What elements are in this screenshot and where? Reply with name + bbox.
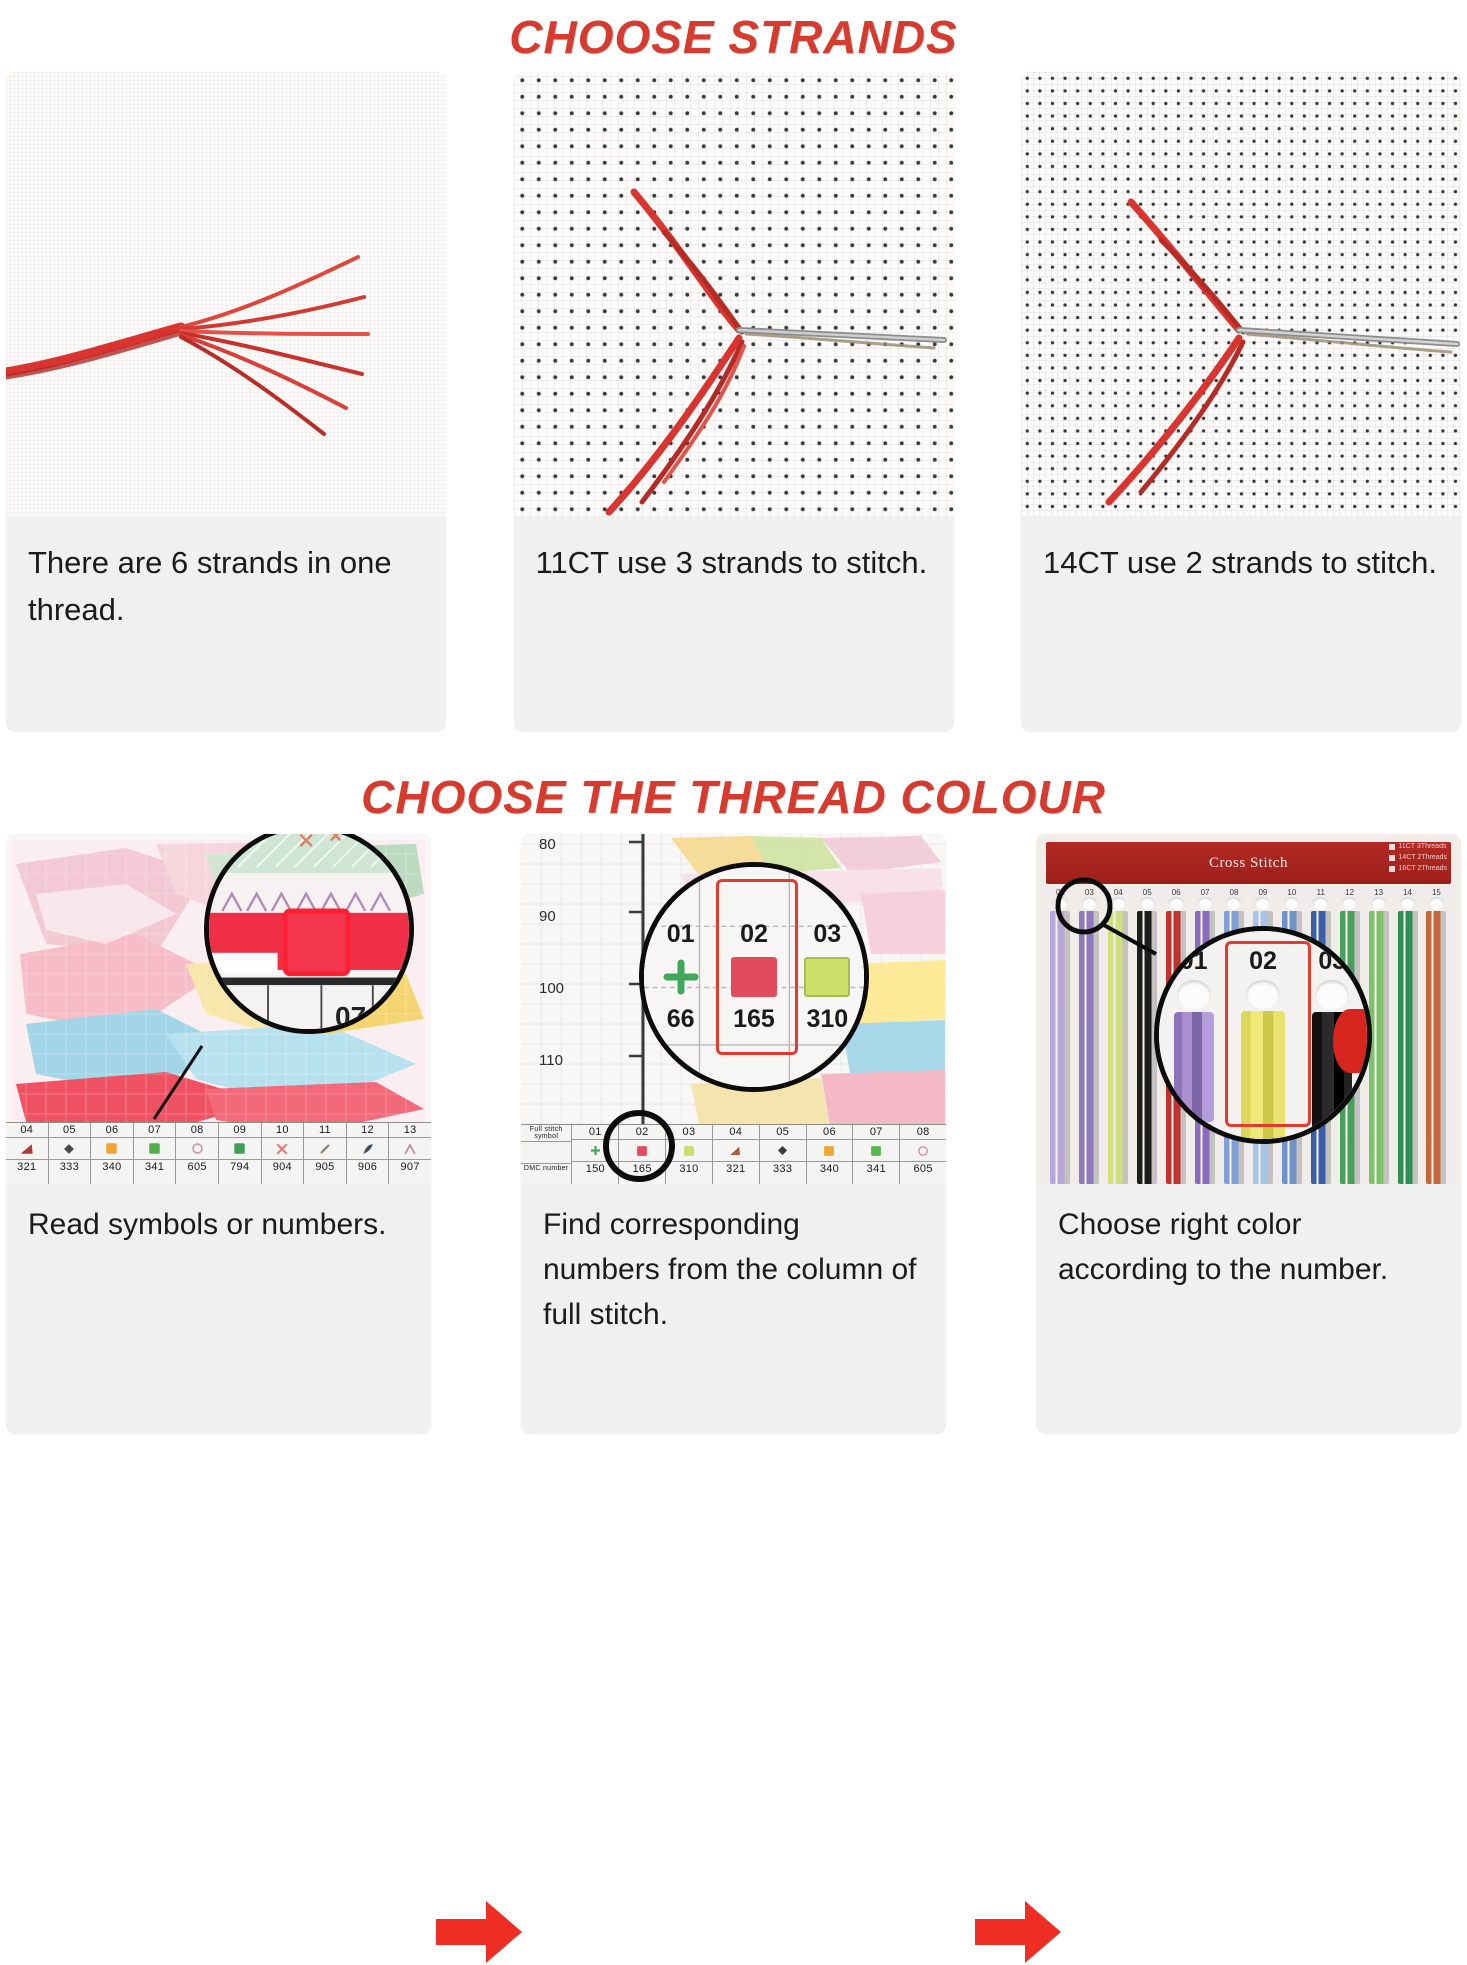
thread-slot-hole	[1284, 897, 1299, 910]
magnifier-red-thread-edge	[1333, 1009, 1367, 1073]
legend-cell-symbol	[853, 1140, 899, 1162]
legend-cell: 05 333	[49, 1123, 92, 1184]
thread-slot-hole	[1111, 897, 1126, 910]
magnified-thread-hole	[1177, 980, 1211, 1010]
next-step-arrow-icon	[436, 1899, 522, 1965]
magnified-thread-hole	[1315, 980, 1349, 1010]
photo-thread-card: Cross Stitch 11CT 3Threads14CT 2Threads1…	[1036, 834, 1461, 1184]
caption-six-strands: There are 6 strands in one thread.	[6, 517, 446, 732]
thread-slot-number: 02	[1056, 888, 1065, 897]
legend-cell: 06 340	[807, 1125, 854, 1184]
needle-and-strands-illustration-11ct	[514, 72, 954, 517]
legend-cell-code: 333	[760, 1162, 806, 1176]
legend-cell-symbol	[389, 1138, 431, 1160]
magnifier-threads: 01 02 03	[1154, 926, 1372, 1144]
legend-cell-number: 09	[219, 1123, 261, 1138]
legend-cell-code: 907	[389, 1160, 431, 1174]
next-step-arrow-icon	[975, 1899, 1061, 1965]
thread-slot-number: 14	[1403, 888, 1412, 897]
caption-choose-color: Choose right color according to the numb…	[1036, 1184, 1461, 1434]
legend-cell-number: 08	[900, 1125, 946, 1140]
thread-slot: 02	[1046, 888, 1075, 1184]
thread-card-title: Cross Stitch	[1209, 855, 1288, 872]
legend-cell-code: 333	[49, 1160, 91, 1174]
legend-cell: 04 321	[713, 1125, 760, 1184]
legend-cell-symbol	[347, 1138, 389, 1160]
card-14ct: 14CT use 2 strands to stitch.	[1021, 72, 1461, 732]
legend-cell-symbol	[807, 1140, 853, 1162]
legend-cell: 08 605	[176, 1123, 219, 1184]
thread-slot-number: 08	[1230, 888, 1239, 897]
legend-cell-number: 05	[760, 1125, 806, 1140]
needle-and-strands-illustration-14ct	[1021, 72, 1461, 517]
checkbox-icon	[1389, 855, 1395, 861]
checkbox-icon	[1389, 866, 1395, 872]
thread-slot-number: 07	[1201, 888, 1210, 897]
legend-cell: 08 605	[900, 1125, 946, 1184]
photo-numbered-chart: 80 90 100 110	[521, 834, 946, 1184]
thread-skein	[1050, 911, 1070, 1184]
chart-legend-strip: Full stitch symbol DMC number 01 150 02 …	[521, 1124, 946, 1184]
legend-cell-number: 08	[176, 1123, 218, 1138]
card-find-numbers: 80 90 100 110	[521, 834, 946, 1434]
magnified-column-number: 03	[813, 920, 841, 949]
legend-cell-symbol	[219, 1138, 261, 1160]
legend-cell: 12 906	[347, 1123, 390, 1184]
legend-cell-code: 321	[713, 1162, 759, 1176]
magnified-thread-column: 01	[1159, 947, 1228, 1139]
thread-card-options: 11CT 3Threads14CT 2Threads16CT 2Threads	[1389, 842, 1447, 875]
thread-slot-number: 11	[1317, 888, 1325, 897]
legend-row-label-symbol: Full stitch symbol	[521, 1125, 571, 1142]
legend-cell: 09 794	[219, 1123, 262, 1184]
magnifier-pattern: 07	[204, 834, 414, 1034]
legend-cell-symbol	[900, 1140, 946, 1162]
thread-skein	[1369, 911, 1389, 1184]
plus-symbol-icon	[658, 957, 704, 997]
thread-slot-hole	[1169, 897, 1184, 910]
legend-cell-number: 12	[347, 1123, 389, 1138]
thread-slot-hole	[1226, 897, 1241, 910]
thread-slot-number: 04	[1114, 888, 1123, 897]
legend-cell-code: 310	[666, 1162, 712, 1176]
caption-find-numbers: Find corresponding numbers from the colu…	[521, 1184, 946, 1434]
thread-card-option-label: 11CT 3Threads	[1398, 842, 1446, 853]
legend-cell-code: 340	[807, 1162, 853, 1176]
thread-slot-hole	[1342, 897, 1357, 910]
thread-card-option: 14CT 2Threads	[1389, 853, 1447, 864]
magnifier-threads-content: 01 02 03	[1159, 931, 1367, 1139]
legend-cell-number: 10	[262, 1123, 304, 1138]
photo-11ct-fabric	[514, 72, 954, 517]
legend-cell-code: 321	[6, 1160, 48, 1174]
legend-cell-number: 04	[6, 1123, 48, 1138]
thread-slot-number: 13	[1374, 888, 1383, 897]
chart-y-axis: 80 90 100 110	[527, 834, 589, 1094]
photo-pattern-chart: 07 04 321 05 333 06 340 07 341 08	[6, 834, 431, 1184]
thread-slot-number: 05	[1143, 888, 1152, 897]
legend-cell-code: 605	[176, 1160, 218, 1174]
magnified-column-code: 310	[806, 1005, 848, 1034]
y-axis-label: 110	[539, 1052, 563, 1069]
legend-cell-symbol	[49, 1138, 91, 1160]
legend-cell-code: 905	[304, 1160, 346, 1174]
legend-cell-symbol	[713, 1140, 759, 1162]
photo-14ct-fabric	[1021, 72, 1461, 517]
legend-cell-symbol	[91, 1138, 133, 1160]
legend-cell-symbol	[304, 1138, 346, 1160]
legend-cell-number: 05	[49, 1123, 91, 1138]
card-choose-color: Cross Stitch 11CT 3Threads14CT 2Threads1…	[1036, 834, 1461, 1434]
thread-slot-hole	[1371, 897, 1386, 910]
legend-cell: 11 905	[304, 1123, 347, 1184]
legend-cell: 06 340	[91, 1123, 134, 1184]
caption-14ct: 14CT use 2 strands to stitch.	[1021, 517, 1461, 732]
thread-slot-number: 15	[1432, 888, 1441, 897]
legend-cell-number: 11	[304, 1123, 346, 1138]
thread-slot-hole	[1313, 897, 1328, 910]
legend-cell: 04 321	[6, 1123, 49, 1184]
legend-row-labels: Full stitch symbol DMC number	[521, 1125, 572, 1184]
thread-slot-number: 12	[1345, 888, 1354, 897]
magnifier-chart: 01 66 02 165	[639, 862, 869, 1092]
magnified-thread-number: 01	[1180, 947, 1208, 976]
thread-slot-number: 06	[1172, 888, 1181, 897]
thread-slot-number: 09	[1258, 888, 1267, 897]
legend-cell: 10 904	[262, 1123, 305, 1184]
y-axis-label: 90	[539, 908, 556, 925]
legend-row-label-spacer	[521, 1142, 571, 1164]
legend-cell-number: 07	[853, 1125, 899, 1140]
magnifier-chart-content: 01 66 02 165	[644, 867, 864, 1087]
thread-strands-illustration	[6, 72, 446, 517]
card-11ct: 11CT use 3 strands to stitch.	[514, 72, 954, 732]
thread-card-option: 11CT 3Threads	[1389, 842, 1447, 853]
checkbox-icon	[1389, 844, 1395, 850]
magnified-chart-column: 01 66	[644, 867, 717, 1087]
magnified-column-swatch	[658, 957, 704, 997]
thread-slot-hole	[1255, 897, 1270, 910]
thread-card-option-label: 16CT 2Threads	[1398, 864, 1447, 875]
legend-cell-code: 341	[134, 1160, 176, 1174]
magnified-thread-skein	[1174, 1012, 1214, 1122]
thread-slot-hole	[1053, 897, 1068, 910]
legend-cell: 05 333	[760, 1125, 807, 1184]
y-axis-label: 80	[539, 836, 556, 853]
thread-skein	[1398, 911, 1418, 1184]
thread-slot-hole	[1429, 897, 1444, 910]
thread-skein	[1426, 911, 1446, 1184]
legend-cell-code: 906	[347, 1160, 389, 1174]
photo-six-strands	[6, 72, 446, 517]
legend-cell-code: 794	[219, 1160, 261, 1174]
card-read-symbols: 07 04 321 05 333 06 340 07 341 08	[6, 834, 431, 1434]
legend-cell-symbol	[134, 1138, 176, 1160]
magnified-column-number: 01	[667, 920, 695, 949]
magnifier-pattern-content: 07	[209, 834, 409, 1029]
magnified-cell-number: 07	[335, 1001, 366, 1033]
legend-cell: 13 907	[389, 1123, 431, 1184]
thread-slot-hole	[1400, 897, 1415, 910]
legend-cell: 07 341	[134, 1123, 177, 1184]
legend-cell-symbol	[262, 1138, 304, 1160]
legend-cell-number: 06	[91, 1123, 133, 1138]
legend-cell-code: 605	[900, 1162, 946, 1176]
thread-slot-number: 03	[1085, 888, 1094, 897]
magnified-chart-column: 03 310	[791, 867, 864, 1087]
magnified-column-swatch	[804, 957, 850, 997]
thread-slot: 04	[1104, 888, 1133, 1184]
legend-cell-number: 07	[134, 1123, 176, 1138]
magnified-column-highlight	[716, 879, 798, 1055]
page-title-choose-strands: CHOOSE STRANDS	[0, 0, 1467, 72]
legend-cell-number: 06	[807, 1125, 853, 1140]
card-six-strands: There are 6 strands in one thread.	[6, 72, 446, 732]
pattern-legend-strip: 04 321 05 333 06 340 07 341 08 605 09 79…	[6, 1122, 431, 1184]
caption-read-symbols: Read symbols or numbers.	[6, 1184, 431, 1434]
legend-cell-number: 04	[713, 1125, 759, 1140]
thread-slot-number: 10	[1287, 888, 1296, 897]
y-axis-label: 100	[539, 980, 564, 997]
legend-cell: 07 341	[853, 1125, 900, 1184]
thread-slot-hole	[1198, 897, 1213, 910]
legend-cell-symbol	[760, 1140, 806, 1162]
thread-skein	[1079, 911, 1099, 1184]
legend-cell-code: 904	[262, 1160, 304, 1174]
thread-card-option-label: 14CT 2Threads	[1398, 853, 1447, 864]
colour-card-row: 07 04 321 05 333 06 340 07 341 08	[0, 834, 1467, 1464]
legend-cell-symbol	[6, 1138, 48, 1160]
strands-card-row: There are 6 strands in one thread. 11CT …	[0, 72, 1467, 762]
legend-cell-symbol	[176, 1138, 218, 1160]
magnified-thread-highlight	[1225, 941, 1311, 1127]
legend-cell-code: 341	[853, 1162, 899, 1176]
thread-card-option: 16CT 2Threads	[1389, 864, 1447, 875]
thread-slot: 03	[1075, 888, 1104, 1184]
thread-slot-hole	[1140, 897, 1155, 910]
caption-11ct: 11CT use 3 strands to stitch.	[514, 517, 954, 732]
legend-cell-code: 340	[91, 1160, 133, 1174]
legend-row-label-code: DMC number	[521, 1164, 571, 1173]
thread-skein	[1108, 911, 1128, 1184]
legend-highlight-circle	[603, 1110, 675, 1182]
thread-slot: 14	[1393, 888, 1422, 1184]
magnified-stitch-detail	[209, 834, 409, 1029]
legend-cell-number: 13	[389, 1123, 431, 1138]
page-title-choose-thread-colour: CHOOSE THE THREAD COLOUR	[0, 762, 1467, 834]
thread-slot: 15	[1422, 888, 1451, 1184]
thread-slot-hole	[1082, 897, 1097, 910]
magnified-column-code: 66	[667, 1005, 695, 1034]
magnified-thread-number: 03	[1318, 947, 1346, 976]
